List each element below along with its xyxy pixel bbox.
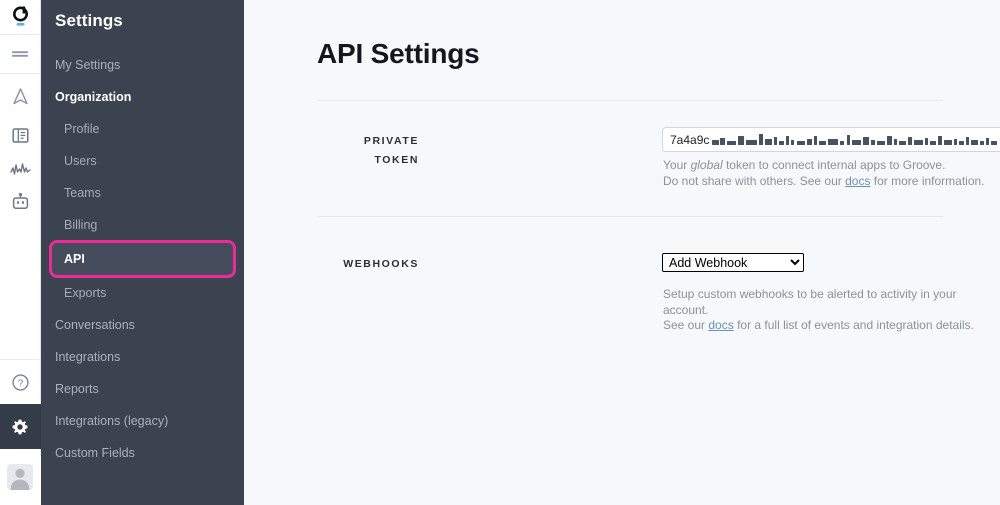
webhooks-label: WEBHOOKS bbox=[324, 255, 419, 274]
sidebar-item-integrations-legacy[interactable]: Integrations (legacy) bbox=[41, 405, 244, 437]
sidebar-item-integrations[interactable]: Integrations bbox=[41, 341, 244, 373]
help-l1-italic: global bbox=[691, 158, 723, 172]
webhooks-help-line2: See our docs for a full list of events a… bbox=[663, 318, 1000, 334]
webhooks-help-line1: Setup custom webhooks to be alerted to a… bbox=[663, 287, 1000, 318]
svg-text:?: ? bbox=[17, 378, 23, 389]
sidebar-item-users[interactable]: Users bbox=[41, 145, 244, 177]
help-circle-icon[interactable]: ? bbox=[0, 360, 41, 404]
sidebar-item-custom-fields[interactable]: Custom Fields bbox=[41, 437, 244, 469]
sidebar-item-teams[interactable]: Teams bbox=[41, 177, 244, 209]
section-divider-bottom bbox=[317, 216, 943, 217]
webhooks-l2-before: See our bbox=[663, 318, 708, 332]
user-avatar[interactable] bbox=[0, 449, 41, 505]
navigation-arrow-icon[interactable] bbox=[0, 74, 41, 119]
app-root: ? Settings My Settings Organization Prof… bbox=[0, 0, 1000, 505]
settings-sidebar: Settings My Settings Organization Profil… bbox=[41, 0, 244, 505]
hamburger-menu-icon[interactable] bbox=[0, 35, 41, 73]
webhooks-select[interactable]: Add Webhook bbox=[662, 253, 804, 272]
private-token-help-line1: Your global token to connect internal ap… bbox=[663, 158, 985, 174]
help-l2-after: for more information. bbox=[870, 174, 984, 188]
sidebar-item-billing[interactable]: Billing bbox=[41, 209, 244, 241]
private-token-docs-link[interactable]: docs bbox=[845, 174, 870, 188]
knowledge-base-icon[interactable] bbox=[0, 119, 41, 152]
section-divider-top bbox=[317, 100, 943, 101]
sidebar-title: Settings bbox=[41, 0, 244, 32]
private-token-input[interactable]: 7a4a9c bbox=[662, 127, 1000, 152]
global-icon-rail: ? bbox=[0, 0, 41, 505]
webhooks-l2-after: for a full list of events and integratio… bbox=[734, 318, 974, 332]
webhooks-help: Setup custom webhooks to be alerted to a… bbox=[663, 287, 1000, 334]
help-l1-after: token to connect internal apps to Groove… bbox=[723, 158, 946, 172]
help-l1-before: Your bbox=[663, 158, 691, 172]
sidebar-item-reports[interactable]: Reports bbox=[41, 373, 244, 405]
page-title: API Settings bbox=[317, 38, 480, 70]
private-token-label: PRIVATE TOKEN bbox=[324, 132, 419, 170]
sidebar-item-my-settings[interactable]: My Settings bbox=[41, 49, 244, 81]
private-token-help-line2: Do not share with others. See our docs f… bbox=[663, 174, 985, 190]
bot-icon[interactable] bbox=[0, 185, 41, 218]
private-token-value: 7a4a9c bbox=[670, 133, 709, 147]
help-l2-before: Do not share with others. See our bbox=[663, 174, 845, 188]
analytics-pulse-icon[interactable] bbox=[0, 152, 41, 185]
sidebar-item-profile[interactable]: Profile bbox=[41, 113, 244, 145]
avatar-image bbox=[7, 464, 33, 490]
main-content: API Settings PRIVATE TOKEN 7a4a9c bbox=[244, 0, 1000, 505]
private-token-redaction bbox=[710, 133, 1000, 146]
webhooks-docs-link[interactable]: docs bbox=[708, 318, 733, 332]
private-token-help: Your global token to connect internal ap… bbox=[663, 158, 985, 189]
sidebar-nav-list: My Settings Organization Profile Users T… bbox=[41, 49, 244, 469]
gear-icon[interactable] bbox=[0, 404, 41, 449]
groove-logo-icon[interactable] bbox=[0, 0, 41, 34]
sidebar-item-exports[interactable]: Exports bbox=[41, 277, 244, 309]
sidebar-item-api[interactable]: API bbox=[52, 243, 233, 275]
sidebar-section-organization[interactable]: Organization bbox=[41, 81, 244, 113]
sidebar-item-conversations[interactable]: Conversations bbox=[41, 309, 244, 341]
